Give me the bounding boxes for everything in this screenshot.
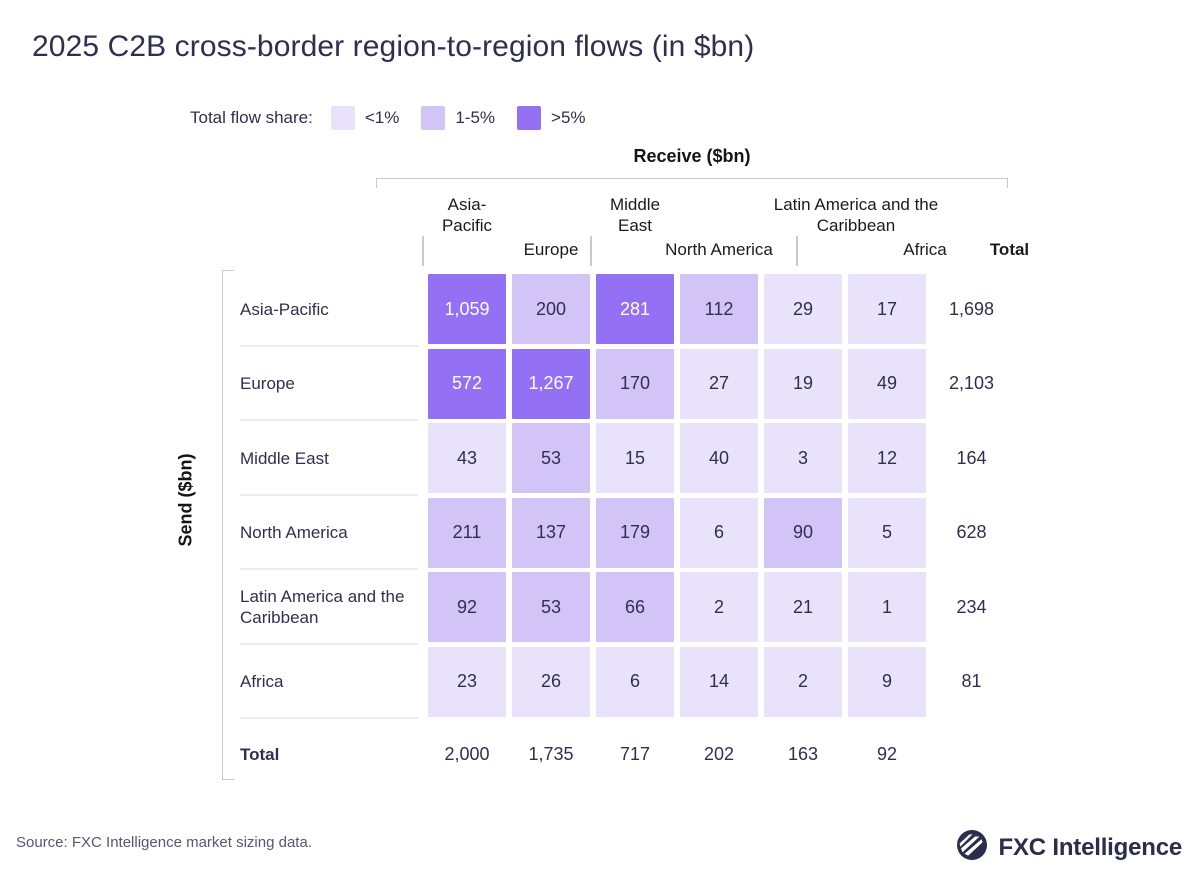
column-header-label: Middle East — [593, 194, 677, 236]
row-label: Asia-Pacific — [240, 272, 425, 347]
legend-label-low: <1% — [365, 108, 400, 128]
column-headers-bottom-row: Europe North America Africa Total — [425, 240, 1012, 266]
row-separator — [240, 717, 418, 719]
brand-name: FXC Intelligence — [998, 834, 1182, 862]
legend-swatch-high-icon — [517, 106, 541, 130]
legend: Total flow share: <1% 1-5% >5% — [190, 106, 608, 130]
column-total-value: 163 — [761, 744, 845, 765]
heatmap-cell[interactable]: 14 — [680, 647, 758, 717]
send-axis-title: Send ($bn) — [176, 454, 197, 547]
column-header-label: Europe — [524, 240, 579, 259]
heatmap-cell[interactable]: 170 — [596, 349, 674, 419]
heatmap-cell[interactable]: 572 — [428, 349, 506, 419]
legend-label-high: >5% — [551, 108, 586, 128]
heatmap-cell[interactable]: 12 — [848, 423, 926, 493]
heatmap-cell[interactable]: 53 — [512, 423, 590, 493]
column-header-asia-pacific: Asia-Pacific — [425, 188, 509, 236]
legend-item-low[interactable]: <1% — [331, 106, 400, 130]
column-total-value: 92 — [845, 744, 929, 765]
heatmap-cell[interactable]: 1,267 — [512, 349, 590, 419]
column-header-north-america: North America — [677, 240, 799, 266]
column-header-label: Total — [990, 240, 1029, 259]
heatmap-cell[interactable]: 23 — [428, 647, 506, 717]
heatmap-matrix: Asia-Pacific1,05920028111229171,698Europ… — [240, 272, 1014, 719]
matrix-row: Latin America and the Caribbean925366221… — [240, 570, 1014, 645]
heatmap-cell[interactable]: 179 — [596, 498, 674, 568]
heatmap-cell[interactable]: 2 — [764, 647, 842, 717]
heatmap-cell[interactable]: 26 — [512, 647, 590, 717]
heatmap-cell[interactable]: 15 — [596, 423, 674, 493]
heatmap-cell[interactable]: 19 — [764, 349, 842, 419]
row-total-value: 1,698 — [929, 274, 1014, 344]
column-headers-top-row: Asia-Pacific Middle East Latin America a… — [425, 188, 928, 236]
row-label: Middle East — [240, 421, 425, 496]
column-total-value: 1,735 — [509, 744, 593, 765]
column-header-latin-america: Latin America and the Caribbean — [761, 188, 951, 236]
heatmap-cell[interactable]: 92 — [428, 572, 506, 642]
heatmap-cell[interactable]: 112 — [680, 274, 758, 344]
matrix-row: North America2111371796905628 — [240, 496, 1014, 571]
heatmap-cell[interactable]: 6 — [596, 647, 674, 717]
legend-item-high[interactable]: >5% — [517, 106, 586, 130]
matrix-row: Africa23266142981 — [240, 645, 1014, 720]
chart-root: 2025 C2B cross-border region-to-region f… — [0, 0, 1200, 875]
heatmap-cell[interactable]: 211 — [428, 498, 506, 568]
column-header-label: Asia-Pacific — [425, 194, 509, 236]
column-header-label: Africa — [903, 240, 946, 259]
column-header-spacer-north-america — [677, 188, 761, 236]
heatmap-cell[interactable]: 49 — [848, 349, 926, 419]
heatmap-cell[interactable]: 17 — [848, 274, 926, 344]
heatmap-cell[interactable]: 1,059 — [428, 274, 506, 344]
row-label: Africa — [240, 645, 425, 720]
column-total-value: 2,000 — [425, 744, 509, 765]
row-label: Latin America and the Caribbean — [240, 570, 425, 645]
legend-swatch-low-icon — [331, 106, 355, 130]
heatmap-cell[interactable]: 29 — [764, 274, 842, 344]
column-header-total: Total — [967, 240, 1052, 266]
column-header-label: North America — [639, 240, 799, 260]
total-row-label: Total — [240, 744, 425, 765]
column-header-tick-asia-pacific — [425, 240, 509, 266]
receive-axis-bracket — [376, 178, 1008, 188]
column-total-value: 202 — [677, 744, 761, 765]
heatmap-cell[interactable]: 9 — [848, 647, 926, 717]
column-totals-row: Total 2,0001,73571720216392 — [240, 725, 929, 783]
matrix-row: Middle East43531540312164 — [240, 421, 1014, 496]
legend-swatch-mid-icon — [421, 106, 445, 130]
heatmap-cell[interactable]: 6 — [680, 498, 758, 568]
send-axis-bracket — [222, 270, 234, 780]
legend-label-mid: 1-5% — [455, 108, 495, 128]
row-total-value: 164 — [929, 423, 1014, 493]
column-total-value: 717 — [593, 744, 677, 765]
heatmap-cell[interactable]: 3 — [764, 423, 842, 493]
heatmap-cell[interactable]: 281 — [596, 274, 674, 344]
row-label: North America — [240, 496, 425, 571]
matrix-row: Europe5721,2671702719492,103 — [240, 347, 1014, 422]
receive-axis-title: Receive ($bn) — [376, 146, 1008, 167]
heatmap-cell[interactable]: 40 — [680, 423, 758, 493]
column-header-tick-latin-america — [799, 240, 883, 266]
column-header-middle-east: Middle East — [593, 188, 677, 236]
fxc-globe-logo-icon — [955, 828, 989, 867]
row-total-value: 234 — [929, 572, 1014, 642]
column-header-spacer-africa — [951, 188, 1035, 236]
row-total-value: 81 — [929, 647, 1014, 717]
heatmap-cell[interactable]: 137 — [512, 498, 590, 568]
heatmap-cell[interactable]: 66 — [596, 572, 674, 642]
row-total-value: 2,103 — [929, 349, 1014, 419]
heatmap-cell[interactable]: 21 — [764, 572, 842, 642]
heatmap-cell[interactable]: 5 — [848, 498, 926, 568]
matrix-row: Asia-Pacific1,05920028111229171,698 — [240, 272, 1014, 347]
row-label: Europe — [240, 347, 425, 422]
row-total-value: 628 — [929, 498, 1014, 568]
source-note: Source: FXC Intelligence market sizing d… — [16, 834, 312, 851]
heatmap-cell[interactable]: 53 — [512, 572, 590, 642]
column-header-africa: Africa — [883, 240, 967, 266]
legend-title: Total flow share: — [190, 108, 313, 128]
column-header-spacer-europe — [509, 188, 593, 236]
heatmap-cell[interactable]: 90 — [764, 498, 842, 568]
legend-item-mid[interactable]: 1-5% — [421, 106, 495, 130]
heatmap-cell[interactable]: 200 — [512, 274, 590, 344]
page-title: 2025 C2B cross-border region-to-region f… — [32, 30, 754, 64]
brand-logo: FXC Intelligence — [955, 828, 1182, 867]
heatmap-cell[interactable]: 1 — [848, 572, 926, 642]
heatmap-cell[interactable]: 43 — [428, 423, 506, 493]
column-header-europe: Europe — [509, 240, 593, 266]
column-header-label: Latin America and the Caribbean — [761, 194, 951, 236]
heatmap-cell[interactable]: 2 — [680, 572, 758, 642]
heatmap-cell[interactable]: 27 — [680, 349, 758, 419]
